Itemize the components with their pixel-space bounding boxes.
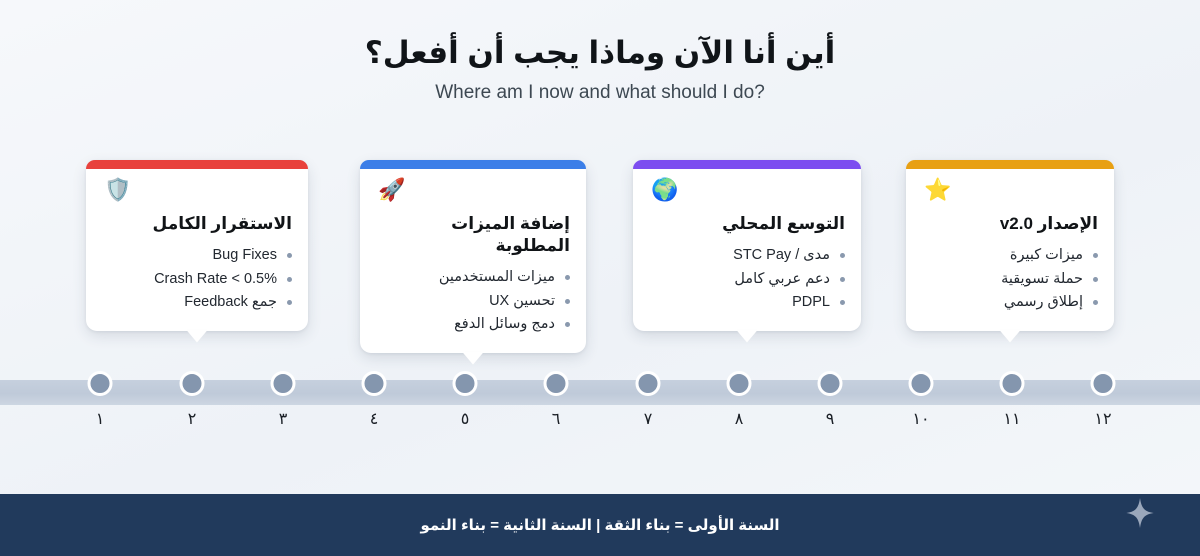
card-pointer (736, 330, 758, 343)
card-title: الاستقرار الكامل (102, 213, 292, 235)
list-item-label: Bug Fixes (213, 247, 277, 263)
list-item: دعم عربي كامل (649, 268, 845, 291)
card-pointer (999, 330, 1021, 343)
timeline-month-label: ٣ (271, 409, 296, 428)
roadmap-infographic: أين أنا الآن وماذا يجب أن أفعل؟ Where am… (0, 0, 1200, 556)
timeline-dot (271, 371, 296, 396)
timeline-dot (453, 371, 478, 396)
timeline-month-label: ١ (88, 409, 113, 428)
timeline-node-12[interactable]: ١٢ (1091, 371, 1116, 428)
list-item: ميزات المستخدمين (376, 266, 570, 289)
star-icon: ⭐ (922, 179, 1098, 205)
timeline-node-10[interactable]: ١٠ (909, 371, 934, 428)
bullet-icon (565, 275, 570, 280)
shield-icon: 🛡️ (102, 179, 292, 205)
list-item-label: دمج وسائل الدفع (454, 316, 555, 332)
bullet-icon (840, 253, 845, 258)
bullet-icon (287, 300, 292, 305)
timeline-month-label: ٧ (636, 409, 661, 428)
card-accent-bar (906, 160, 1114, 169)
timeline-month-label: ٥ (453, 409, 478, 428)
timeline-dot (818, 371, 843, 396)
list-item: جمع Feedback (102, 291, 292, 314)
bullet-icon (840, 300, 845, 305)
list-item-label: مدى / STC Pay (733, 247, 830, 263)
list-item-label: جمع Feedback (184, 294, 277, 310)
timeline-month-label: ١٢ (1091, 409, 1116, 428)
card-title: الإصدار v2.0 (922, 213, 1098, 235)
list-item: Bug Fixes (102, 244, 292, 267)
timeline-node-4[interactable]: ٤ (362, 371, 387, 428)
bullet-icon (1093, 277, 1098, 282)
list-item: مدى / STC Pay (649, 244, 845, 267)
timeline-dot (1000, 371, 1025, 396)
timeline-node-1[interactable]: ١ (88, 371, 113, 428)
globe-icon: 🌍 (649, 179, 845, 205)
phase-cards: 🛡️ الاستقرار الكامل Bug Fixes Crash Rate… (0, 0, 1200, 380)
timeline-month-label: ٨ (727, 409, 752, 428)
card-pointer (462, 352, 484, 365)
phase-card-3[interactable]: 🌍 التوسع المحلي مدى / STC Pay دعم عربي ك… (633, 160, 861, 331)
list-item: ميزات كبيرة (922, 244, 1098, 267)
card-title: إضافة الميزات المطلوبة (376, 213, 570, 257)
bullet-icon (565, 322, 570, 327)
phase-card-2[interactable]: 🚀 إضافة الميزات المطلوبة ميزات المستخدمي… (360, 160, 586, 353)
timeline-month-label: ٢ (180, 409, 205, 428)
card-accent-bar (86, 160, 308, 169)
timeline-node-11[interactable]: ١١ (1000, 371, 1025, 428)
list-item: حملة تسويقية (922, 268, 1098, 291)
timeline-dot (1091, 371, 1116, 396)
timeline-node-5[interactable]: ٥ (453, 371, 478, 428)
timeline-node-3[interactable]: ٣ (271, 371, 296, 428)
list-item: Crash Rate < 0.5% (102, 268, 292, 291)
timeline-month-label: ١١ (1000, 409, 1025, 428)
card-item-list: ميزات المستخدمين تحسين UX دمج وسائل الدف… (376, 266, 570, 336)
list-item-label: ميزات كبيرة (1010, 247, 1083, 263)
timeline-dot (362, 371, 387, 396)
list-item: PDPL (649, 291, 845, 314)
card-body: 🛡️ الاستقرار الكامل Bug Fixes Crash Rate… (86, 169, 308, 331)
phase-card-4[interactable]: ⭐ الإصدار v2.0 ميزات كبيرة حملة تسويقية … (906, 160, 1114, 331)
list-item-label: Crash Rate < 0.5% (154, 271, 277, 287)
card-item-list: Bug Fixes Crash Rate < 0.5% جمع Feedback (102, 244, 292, 314)
list-item-label: PDPL (792, 294, 830, 310)
bullet-icon (1093, 253, 1098, 258)
timeline-dot (88, 371, 113, 396)
timeline-nodes: ١٢٣٤٥٦٧٨٩١٠١١١٢ (0, 371, 1200, 413)
sparkle-icon (1126, 498, 1154, 528)
list-item-label: دعم عربي كامل (734, 271, 830, 287)
list-item: تحسين UX (376, 290, 570, 313)
timeline-dot (909, 371, 934, 396)
timeline-node-2[interactable]: ٢ (180, 371, 205, 428)
card-pointer (186, 330, 208, 343)
bullet-icon (1093, 300, 1098, 305)
bullet-icon (565, 299, 570, 304)
bullet-icon (287, 253, 292, 258)
bullet-icon (840, 277, 845, 282)
card-item-list: ميزات كبيرة حملة تسويقية إطلاق رسمي (922, 244, 1098, 314)
footer-text: السنة الأولى = بناء الثقة | السنة الثاني… (420, 516, 779, 534)
card-body: 🚀 إضافة الميزات المطلوبة ميزات المستخدمي… (360, 169, 586, 353)
list-item-label: إطلاق رسمي (1004, 294, 1083, 310)
timeline-month-label: ٤ (362, 409, 387, 428)
timeline-dot (180, 371, 205, 396)
list-item-label: تحسين UX (489, 293, 555, 309)
timeline-node-7[interactable]: ٧ (636, 371, 661, 428)
timeline-node-6[interactable]: ٦ (544, 371, 569, 428)
card-accent-bar (633, 160, 861, 169)
footer-bar: السنة الأولى = بناء الثقة | السنة الثاني… (0, 494, 1200, 556)
card-item-list: مدى / STC Pay دعم عربي كامل PDPL (649, 244, 845, 314)
timeline-dot (727, 371, 752, 396)
list-item: إطلاق رسمي (922, 291, 1098, 314)
list-item: دمج وسائل الدفع (376, 313, 570, 336)
timeline-month-label: ١٠ (909, 409, 934, 428)
card-accent-bar (360, 160, 586, 169)
card-title: التوسع المحلي (649, 213, 845, 235)
card-body: 🌍 التوسع المحلي مدى / STC Pay دعم عربي ك… (633, 169, 861, 331)
list-item-label: ميزات المستخدمين (439, 269, 555, 285)
timeline-node-9[interactable]: ٩ (818, 371, 843, 428)
card-body: ⭐ الإصدار v2.0 ميزات كبيرة حملة تسويقية … (906, 169, 1114, 331)
timeline-dot (544, 371, 569, 396)
timeline-node-8[interactable]: ٨ (727, 371, 752, 428)
timeline-month-label: ٦ (544, 409, 569, 428)
list-item-label: حملة تسويقية (1001, 271, 1083, 287)
timeline-dot (636, 371, 661, 396)
timeline-month-label: ٩ (818, 409, 843, 428)
rocket-icon: 🚀 (376, 179, 570, 205)
phase-card-1[interactable]: 🛡️ الاستقرار الكامل Bug Fixes Crash Rate… (86, 160, 308, 331)
bullet-icon (287, 277, 292, 282)
